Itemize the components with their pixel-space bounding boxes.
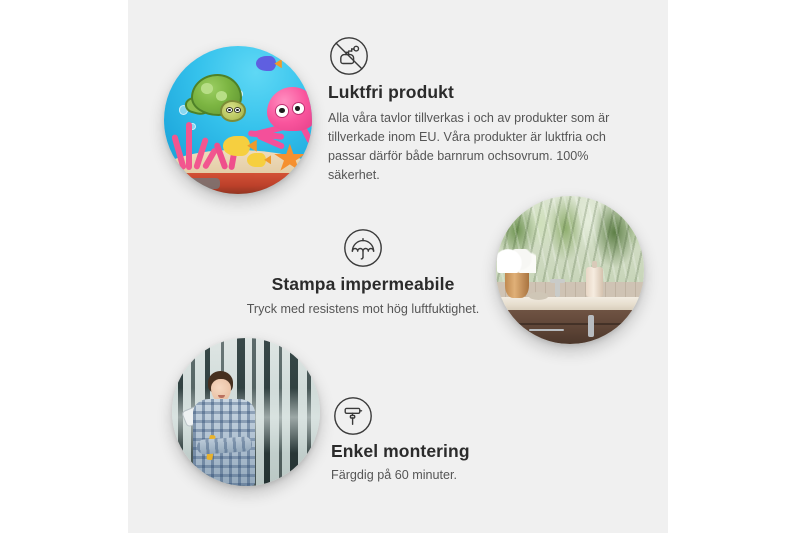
forest-painter-scene bbox=[172, 338, 320, 486]
turtle-eye bbox=[226, 107, 234, 113]
feature-description: Alla våra tavlor tillverkas i och av pro… bbox=[328, 109, 628, 186]
woman-crossed-arms bbox=[196, 436, 252, 455]
soap-dish bbox=[529, 292, 548, 299]
vanity-cabinet bbox=[496, 310, 644, 344]
underwater-scene bbox=[164, 46, 312, 194]
paint-roller-icon bbox=[333, 396, 373, 436]
feature-block-odourless: Luktfri produkt Alla våra tavlor tillver… bbox=[328, 36, 633, 185]
turtle-head bbox=[220, 100, 246, 122]
bottom-photo-strip bbox=[164, 173, 312, 194]
underwater-cartoon-mural-photo bbox=[164, 46, 312, 194]
faucet-icon bbox=[555, 279, 559, 297]
soap-bottle bbox=[586, 267, 602, 297]
woman-face bbox=[211, 379, 231, 402]
umbrella-icon bbox=[343, 228, 383, 268]
coral-pink bbox=[173, 120, 217, 170]
octopus-illustration bbox=[253, 87, 312, 158]
bathroom-scene bbox=[496, 196, 644, 344]
painter-forest-mural-photo bbox=[172, 338, 320, 486]
feature-block-waterproof: Stampa impermeabile Tryck med resistens … bbox=[218, 228, 508, 319]
no-spray-bottle-icon bbox=[329, 36, 369, 76]
turtle-eye bbox=[234, 107, 242, 113]
cabinet-handle bbox=[588, 315, 594, 336]
feature-title: Enkel montering bbox=[331, 441, 591, 463]
octopus-eye bbox=[275, 104, 289, 117]
turtle-illustration bbox=[186, 71, 251, 120]
octopus-eye bbox=[292, 102, 305, 115]
painter-woman bbox=[187, 371, 270, 486]
countertop bbox=[496, 297, 644, 310]
product-benefits-banner: Luktfri produkt Alla våra tavlor tillver… bbox=[0, 0, 800, 533]
feature-block-easy-install: Enkel montering Färgdig på 60 minuter. bbox=[331, 396, 591, 485]
cabinet-handle bbox=[529, 329, 565, 331]
feature-title: Stampa impermeabile bbox=[218, 274, 508, 296]
bathroom-leaf-wallpaper-photo bbox=[496, 196, 644, 344]
feature-description: Färgdig på 60 minuter. bbox=[331, 466, 591, 485]
octopus-head bbox=[267, 87, 312, 131]
benefits-panel: Luktfri produkt Alla våra tavlor tillver… bbox=[128, 0, 668, 533]
feature-description: Tryck med resistens mot hög luftfuktighe… bbox=[218, 300, 508, 319]
feature-title: Luktfri produkt bbox=[328, 82, 633, 104]
cabinet-seam bbox=[496, 323, 644, 325]
fish-icon bbox=[256, 56, 277, 71]
fish-icon bbox=[223, 136, 250, 155]
